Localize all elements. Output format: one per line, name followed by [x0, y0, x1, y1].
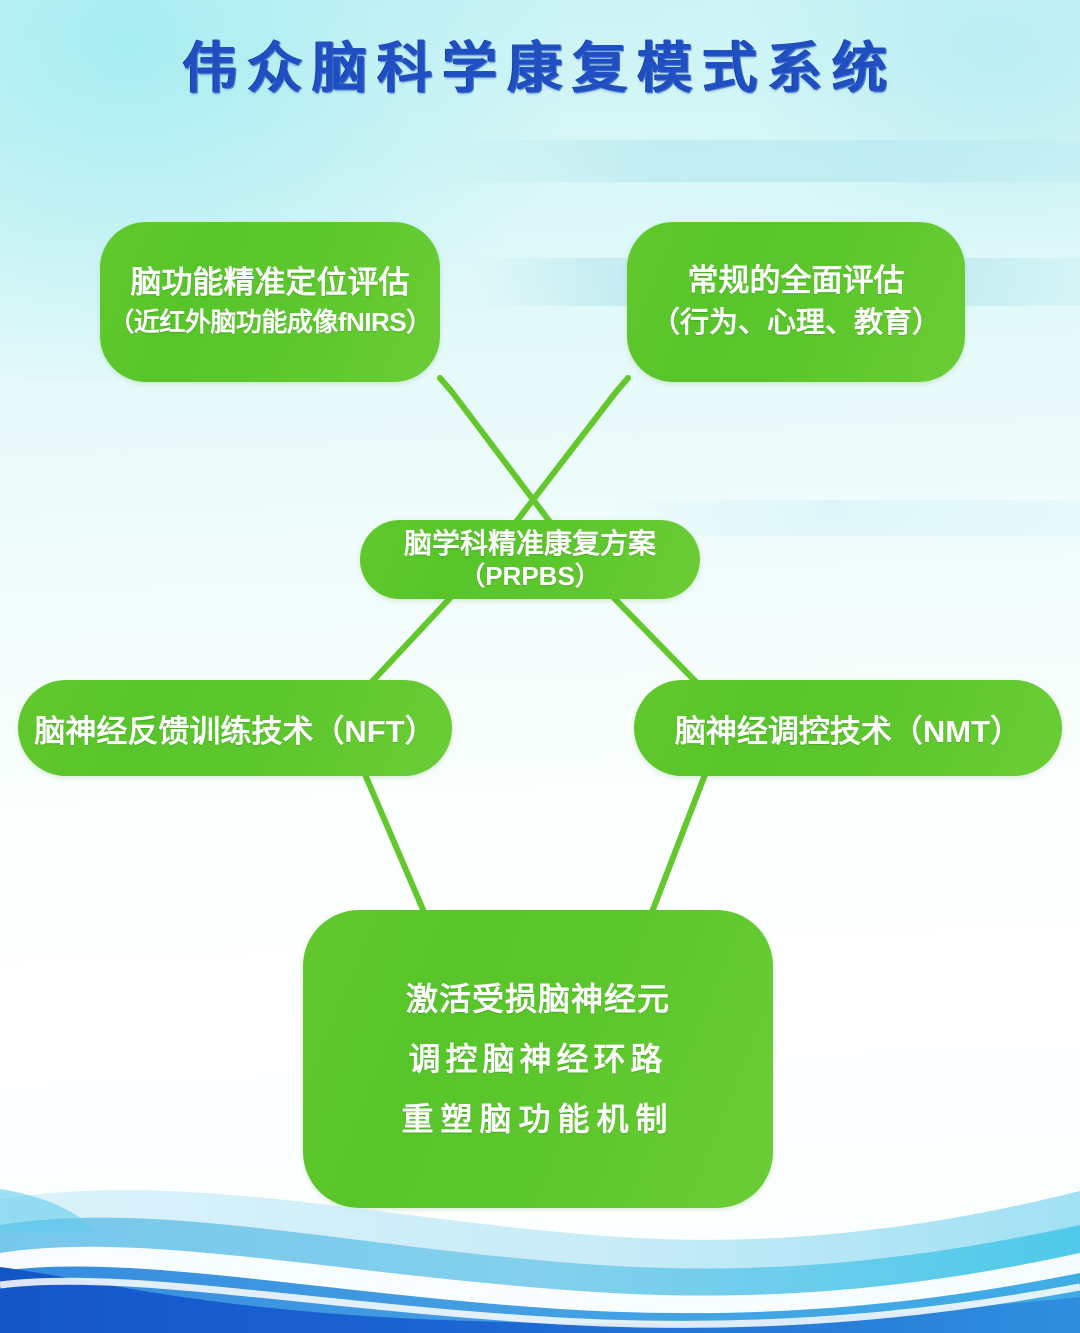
- node-line-secondary: （行为、心理、教育）: [651, 302, 941, 344]
- edge-prpbs-to-nmt: [612, 596, 700, 686]
- node-conventional-comprehensive-assessment[interactable]: 常规的全面评估 （行为、心理、教育）: [627, 222, 965, 382]
- node-line-outcome-3: 重塑脑功能机制: [401, 1103, 674, 1135]
- node-neurofeedback-training-technology-nft[interactable]: 脑神经反馈训练技术（NFT）: [18, 680, 452, 776]
- wave-left-accent: [0, 1189, 96, 1233]
- node-line-primary: 脑学科精准康复方案: [404, 527, 656, 561]
- node-line-secondary: （近红外脑功能成像fNIRS）: [108, 303, 431, 342]
- edge-nmt-to-outcomes: [652, 772, 706, 912]
- wave-layer-bright-blue: [0, 1266, 1080, 1333]
- edge-prpbs-to-nft: [368, 596, 452, 686]
- edge-assess-general-to-prpbs-stub: [616, 378, 628, 392]
- background-light-band-upper: [440, 140, 1080, 182]
- edge-assess-fnirs-to-prpbs-stub: [440, 378, 452, 392]
- node-line-primary: 脑功能精准定位评估: [131, 262, 410, 304]
- wave-layer-pale: [0, 1190, 1080, 1333]
- node-brain-function-precise-localization-assessment[interactable]: 脑功能精准定位评估 （近红外脑功能成像fNIRS）: [100, 222, 440, 382]
- node-precise-rehabilitation-plan-prpbs[interactable]: 脑学科精准康复方案 （PRPBS）: [360, 520, 700, 599]
- wave-layer-deep-blue: [0, 1267, 1080, 1333]
- edge-assess-fnirs-to-prpbs: [452, 392, 550, 522]
- page-title: 伟众脑科学康复模式系统: [0, 38, 1080, 99]
- node-rehabilitation-outcomes[interactable]: 激活受损脑神经元 调控脑神经环路 重塑脑功能机制: [303, 910, 773, 1208]
- node-line-outcome-1: 激活受损脑神经元: [406, 983, 670, 1015]
- edge-assess-general-to-prpbs: [516, 392, 616, 522]
- node-line-primary: 脑神经调控技术（NMT）: [675, 706, 1021, 751]
- node-neuromodulation-technology-nmt[interactable]: 脑神经调控技术（NMT）: [634, 680, 1062, 776]
- wave-highlight-ribbon: [0, 1281, 1080, 1324]
- node-line-outcome-2: 调控脑神经环路: [408, 1043, 667, 1075]
- edge-nft-to-outcomes: [364, 772, 424, 912]
- wave-layer-mid: [0, 1218, 1080, 1333]
- node-line-secondary: （PRPBS）: [459, 561, 601, 592]
- node-line-primary: 常规的全面评估: [688, 260, 905, 302]
- node-line-primary: 脑神经反馈训练技术（NFT）: [34, 706, 435, 751]
- wave-layer-white: [0, 1247, 1080, 1333]
- poster-canvas: 伟众脑科学康复模式系统 脑功能精准定位评估 （近红外脑功能成像fNIRS） 常规…: [0, 0, 1080, 1333]
